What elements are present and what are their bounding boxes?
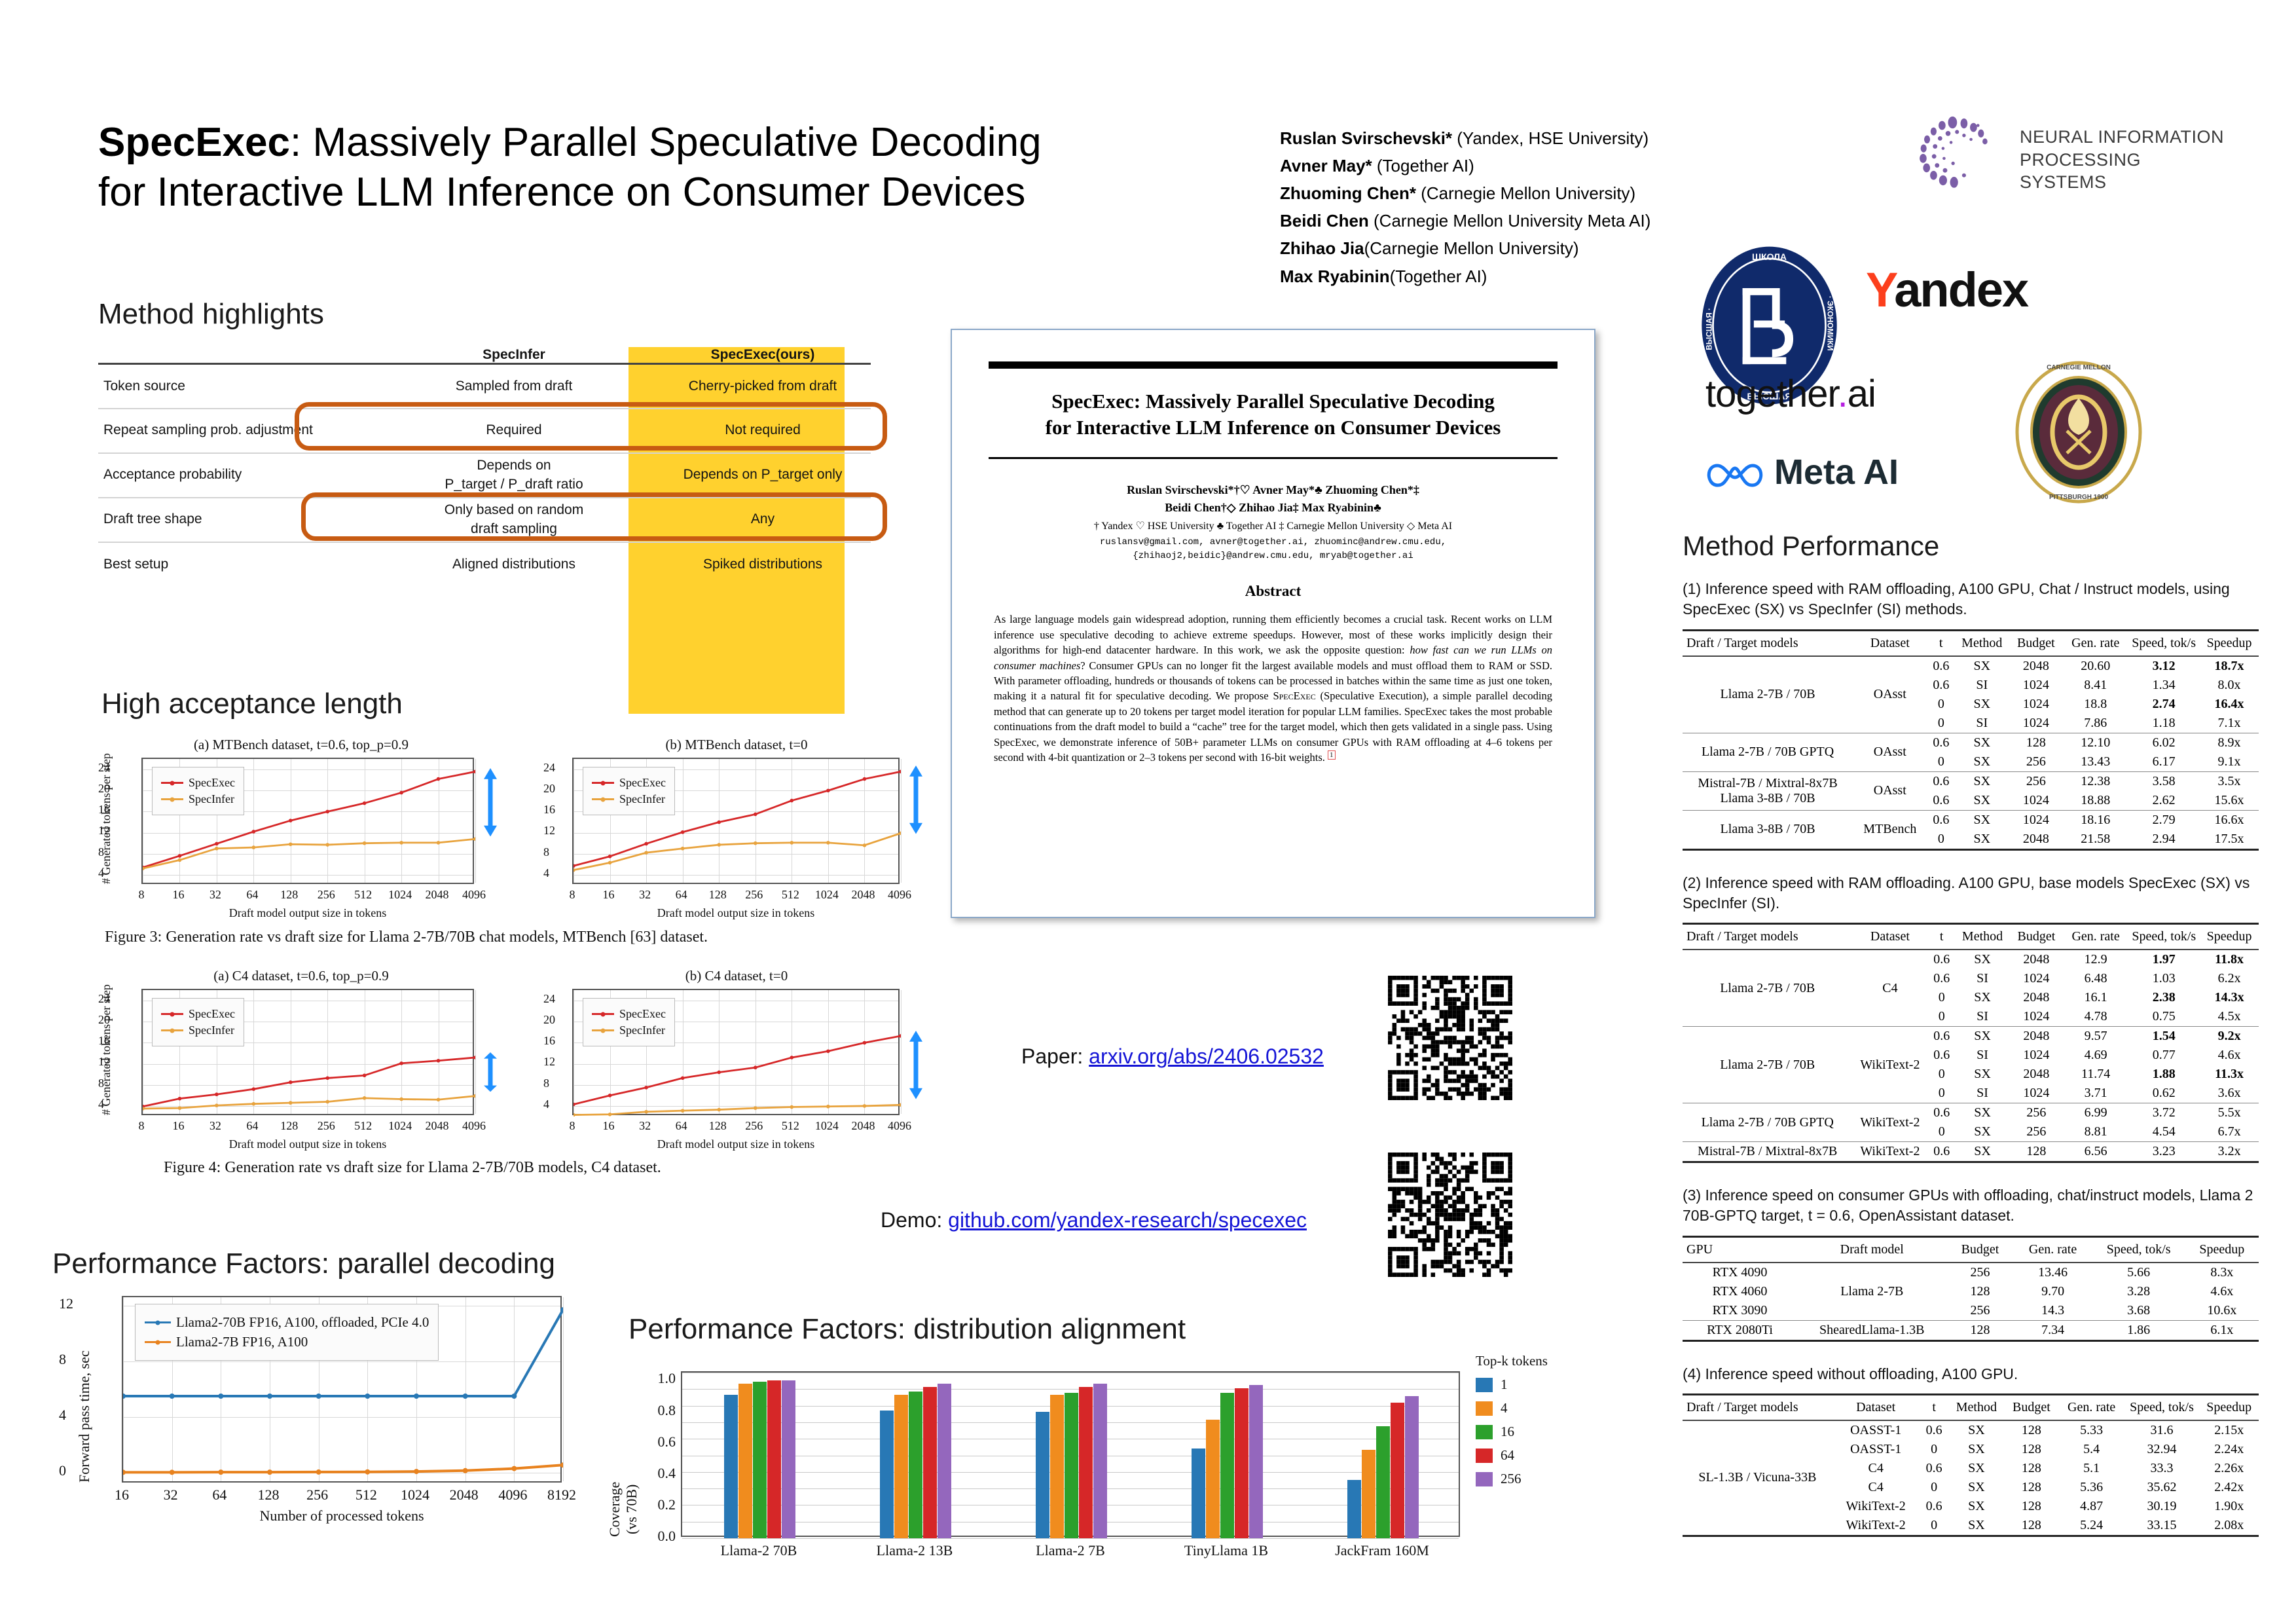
x-tick: 16	[589, 888, 629, 902]
series-point	[574, 868, 575, 872]
y-tick: 4	[543, 866, 549, 880]
cell-model: Mistral-7B / Mixtral-8x7B	[1683, 1142, 1852, 1162]
y-tick: 24	[543, 992, 555, 1006]
pd-host-ylabel: Forward pass time, sec	[76, 1350, 93, 1483]
x-tick: 512	[344, 1119, 383, 1133]
together-ai-logo: together.ai	[1705, 372, 1876, 416]
cell-speedup: 7.1x	[2200, 714, 2259, 733]
cell-speedup: 3.6x	[2200, 1084, 2259, 1103]
cell-genrate: 4.78	[2064, 1007, 2128, 1027]
x-tick: 4096	[880, 888, 919, 902]
table2-caption: (2) Inference speed with RAM offloading.…	[1683, 873, 2259, 914]
cell-speedup: 2.15x	[2199, 1420, 2259, 1440]
cell-t: 0	[1927, 1065, 1956, 1084]
x-tick: 64	[662, 1119, 701, 1133]
cell-speedup: 2.08x	[2199, 1516, 2259, 1536]
mh-row-1: Repeat sampling prob. adjustmentRequired…	[98, 409, 871, 453]
cell-t: 0.6	[1927, 771, 1955, 791]
chart-parallel-decoding: Llama2-70B FP16, A100, offloaded, PCIe 4…	[59, 1287, 576, 1532]
y-tick: 4	[59, 1407, 66, 1424]
cell-budget: 1024	[2009, 1084, 2064, 1103]
cell-budget: 2048	[2009, 1065, 2064, 1084]
x-tick: 32	[151, 1486, 191, 1504]
x-tick: 8	[553, 888, 592, 902]
mh-specinfer-0: Sampled from draft	[373, 364, 655, 409]
y-tick: 0.4	[636, 1465, 676, 1482]
series-point	[215, 1103, 219, 1107]
x-tick: 2048	[843, 1119, 883, 1133]
paper-emails-line2: {zhihaoj2,beidic}@andrew.cmu.edu, mryab@…	[989, 549, 1558, 563]
cell-speedup: 4.5x	[2200, 1007, 2259, 1027]
series-point	[644, 842, 648, 846]
cell-budget: 128	[2004, 1516, 2059, 1536]
cell-draft-model: ShearedLlama-1.3B	[1797, 1320, 1946, 1340]
series-point	[414, 1469, 419, 1474]
legend-item-1: Llama2-7B FP16, A100	[145, 1334, 429, 1350]
author-line-3: Beidi Chen (Carnegie Mellon University M…	[1280, 207, 1738, 234]
col-header: Dataset	[1852, 924, 1927, 950]
cell-dataset: WikiText-2	[1852, 1142, 1927, 1162]
series-point	[414, 1393, 419, 1399]
col-header: Budget	[2009, 630, 2063, 656]
cell-t: 0.6	[1927, 1142, 1956, 1162]
mh-specexec-4: Spiked distributions	[655, 542, 871, 587]
table-row: Llama 2-7B / 70BC40.6SX204812.91.9711.8x	[1683, 950, 2259, 969]
cell-t: 0	[1920, 1478, 1949, 1497]
col-header: Method	[1955, 630, 2009, 656]
series-point	[215, 842, 219, 846]
cell-genrate: 6.48	[2064, 969, 2128, 988]
cell-t: 0	[1927, 830, 1955, 850]
series-point	[325, 1100, 329, 1104]
mh-specexec-3: Any	[655, 498, 871, 542]
col-header: Speed, tok/s	[2128, 630, 2200, 656]
cell-genrate: 16.1	[2064, 988, 2128, 1007]
x-tick: JackFram 160M	[1320, 1542, 1444, 1559]
table3-caption: (3) Inference speed on consumer GPUs wit…	[1683, 1185, 2259, 1227]
cell-budget: 256	[1947, 1263, 2014, 1282]
cell-method: SI	[1956, 1007, 2009, 1027]
series-point	[863, 1041, 867, 1045]
cell-dataset: C4	[1852, 950, 1927, 1027]
series-point	[289, 1101, 293, 1105]
col-header: Speed, tok/s	[2128, 924, 2200, 950]
legend-item-1: 4	[1476, 1400, 1574, 1416]
cell-method: SX	[1949, 1420, 2004, 1440]
col-header: Draft / Target models	[1683, 1394, 1832, 1420]
cell-method: SI	[1956, 1084, 2009, 1103]
cell-draft-model: Llama 2-7B	[1797, 1263, 1946, 1321]
cell-speedup: 11.8x	[2200, 950, 2259, 969]
cell-speedup: 16.4x	[2200, 695, 2259, 714]
table-row: Llama 2-7B / 70BWikiText-20.6SX20489.571…	[1683, 1027, 2259, 1046]
series-point	[608, 1113, 612, 1116]
gridline-v	[563, 1297, 564, 1481]
mh-row-4: Best setupAligned distributionsSpiked di…	[98, 542, 871, 587]
cell-t: 0.6	[1920, 1420, 1949, 1440]
meta-ai-logo: Meta AI	[1705, 452, 1899, 492]
col-header: Budget	[2009, 924, 2064, 950]
cell-speed: 3.23	[2128, 1142, 2200, 1162]
paper-authors-line2: Beidi Chen†◇ Zhihao Jia‡ Max Ryabinin♣	[989, 499, 1558, 517]
paper-qr-code[interactable]	[1388, 976, 1512, 1100]
x-tick: 8	[553, 1119, 592, 1133]
gridline-h	[682, 1373, 1459, 1373]
bar-4-4	[1405, 1396, 1419, 1538]
cell-t: 0.6	[1927, 733, 1955, 752]
y-tick: 0.2	[636, 1496, 676, 1513]
series-point	[826, 788, 830, 792]
col-header: Draft / Target models	[1683, 924, 1852, 950]
cell-budget: 256	[2009, 771, 2063, 791]
y-tick: 16	[543, 803, 555, 817]
col-header: Dataset	[1832, 1394, 1920, 1420]
cell-budget: 256	[2009, 1122, 2064, 1142]
method-highlights-table: SpecInfer SpecExec(ours) Token sourceSam…	[98, 347, 871, 587]
cell-speedup: 4.6x	[2200, 1046, 2259, 1065]
figure4-caption: Figure 4: Generation rate vs draft size …	[164, 1159, 661, 1177]
cell-method: SX	[1956, 1122, 2009, 1142]
cell-speed: 1.97	[2128, 950, 2200, 969]
cell-genrate: 9.57	[2064, 1027, 2128, 1046]
bar-2-2	[1065, 1393, 1078, 1538]
x-tick: 32	[625, 888, 665, 902]
col-header: Gen. rate	[2059, 1394, 2124, 1420]
demo-link-url[interactable]: github.com/yandex-research/specexec	[948, 1208, 1307, 1232]
x-tick: TinyLlama 1B	[1164, 1542, 1288, 1559]
cell-gpu: RTX 3090	[1683, 1301, 1797, 1321]
yandex-logo: Yandex	[1866, 262, 2028, 318]
fig3a-host-xlabel: Draft model output size in tokens	[141, 906, 474, 920]
col-header: t	[1920, 1394, 1949, 1420]
neurips-logo: NEURAL INFORMATION PROCESSING SYSTEMS	[1905, 105, 2232, 216]
cell-speed: 30.19	[2124, 1497, 2200, 1516]
method-performance-column: Method Performance (1) Inference speed w…	[1683, 530, 2259, 1537]
cell-budget: 1024	[2009, 1046, 2064, 1065]
fig3a-host-title: (a) MTBench dataset, t=0.6, top_p=0.9	[98, 737, 504, 753]
fig4b-host-title: (b) C4 dataset, t=0	[543, 968, 930, 984]
cell-speedup: 18.7x	[2200, 656, 2259, 676]
mh-label-2: Acceptance probability	[98, 453, 373, 498]
author-line-4: Zhihao Jia(Carnegie Mellon University)	[1280, 234, 1738, 262]
legend-item-0: 1	[1476, 1376, 1574, 1393]
cell-speedup: 15.6x	[2200, 791, 2259, 811]
fig3a-host-legend: SpecExecSpecInfer	[152, 767, 244, 815]
x-tick: 8192	[542, 1486, 581, 1504]
x-tick: 128	[270, 888, 309, 902]
x-tick: Llama-2 7B	[1008, 1542, 1133, 1559]
bar-3-1	[1206, 1420, 1220, 1538]
da-host-ylabel: Coverage(vs 70B)	[606, 1482, 640, 1537]
gridline-v	[901, 990, 902, 1114]
legend-item-4: 256	[1476, 1471, 1574, 1487]
cell-gpu: RTX 4090	[1683, 1263, 1797, 1282]
series-point	[267, 1469, 272, 1475]
series-point	[437, 1059, 441, 1063]
legend-title: Top-k tokens	[1476, 1353, 1574, 1369]
cell-method: SI	[1956, 969, 2009, 988]
fig4b-host-delta-arrow	[907, 1031, 924, 1099]
series-point	[608, 1094, 612, 1098]
qr-demo-glyph	[1388, 1153, 1512, 1277]
cell-speedup: 1.90x	[2199, 1497, 2259, 1516]
da-host-plot	[681, 1371, 1460, 1537]
cell-t: 0	[1927, 988, 1956, 1007]
cell-t: 0	[1927, 752, 1955, 772]
bar-4-3	[1391, 1403, 1404, 1538]
paper-authors-line1: Ruslan Svirschevski*†♡ Avner May*♣ Zhuom…	[989, 481, 1558, 499]
series-point	[863, 777, 867, 781]
mh-specexec-2: Depends on P_target only	[655, 453, 871, 498]
series-point	[289, 1080, 293, 1084]
gridline-h	[682, 1538, 1459, 1539]
mh-specinfer-2: Depends onP_target / P_draft ratio	[373, 453, 655, 498]
cell-model: Llama 2-7B / 70B	[1683, 656, 1853, 733]
cell-speedup: 9.2x	[2200, 1027, 2259, 1046]
cell-budget: 2048	[2009, 830, 2063, 850]
cell-speedup: 14.3x	[2200, 988, 2259, 1007]
legend-item-0: SpecExec	[161, 1007, 235, 1021]
table-row: RTX 309025614.33.6810.6x	[1683, 1301, 2259, 1321]
series-point	[365, 1393, 370, 1399]
series-point	[608, 861, 612, 865]
x-tick: 1024	[807, 1119, 847, 1133]
cell-speedup: 2.42x	[2199, 1478, 2259, 1497]
cell-budget: 1024	[2009, 969, 2064, 988]
x-tick: 8	[122, 1119, 161, 1133]
bar-2-1	[1050, 1395, 1064, 1538]
cell-t: 0.6	[1927, 810, 1955, 830]
cell-t: 0.6	[1927, 656, 1955, 676]
table-row: Llama 3-8B / 70BMTBench0.6SX102418.162.7…	[1683, 810, 2259, 830]
cell-genrate: 18.88	[2063, 791, 2128, 811]
table1-caption: (1) Inference speed with RAM offloading,…	[1683, 579, 2259, 620]
cell-budget: 128	[2004, 1497, 2059, 1516]
cell-speed: 0.75	[2128, 1007, 2200, 1027]
mh-specexec-0: Cherry-picked from draft	[655, 364, 871, 409]
table-row: Llama 2-7B / 70B GPTQOAsst0.6SX12812.106…	[1683, 733, 2259, 752]
cell-method: SX	[1949, 1497, 2004, 1516]
mh-specexec-1: Not required	[655, 409, 871, 453]
cell-t: 0.6	[1920, 1497, 1949, 1516]
cell-speedup: 11.3x	[2200, 1065, 2259, 1084]
cell-method: SX	[1956, 1142, 2009, 1162]
table-row: SL-1.3B / Vicuna-33BOASST-10.6SX1285.333…	[1683, 1420, 2259, 1440]
cell-genrate: 18.8	[2063, 695, 2128, 714]
cell-t: 0	[1927, 1007, 1956, 1027]
cell-budget: 1024	[2009, 1007, 2064, 1027]
col-header: Speed, tok/s	[2124, 1394, 2200, 1420]
series-point	[215, 847, 219, 851]
series-line-1	[143, 839, 475, 868]
author-line-5: Max Ryabinin(Together AI)	[1280, 263, 1738, 290]
svg-text:PITTSBURGH 1900: PITTSBURGH 1900	[2049, 494, 2108, 501]
fig4b-host-legend: SpecExecSpecInfer	[583, 998, 675, 1046]
series-point	[399, 1098, 403, 1101]
series-point	[754, 841, 757, 845]
cell-method: SI	[1955, 676, 2009, 695]
fig3a-host-delta-arrow	[482, 768, 499, 837]
cell-speedup: 3.2x	[2200, 1142, 2259, 1162]
fig4a-host-delta-arrow	[482, 1052, 499, 1092]
method-highlights-block: SpecInfer SpecExec(ours) Token sourceSam…	[98, 347, 871, 587]
cell-gpu: RTX 4060	[1683, 1282, 1797, 1301]
table-no-offloading-speed: Draft / Target modelsDatasettMethodBudge…	[1683, 1393, 2259, 1537]
mh-label-4: Best setup	[98, 542, 373, 587]
x-tick: 4096	[880, 1119, 919, 1133]
cell-speed: 4.54	[2128, 1122, 2200, 1142]
bar-0-3	[767, 1380, 781, 1538]
cell-budget: 2048	[2009, 656, 2063, 676]
paper-link-row[interactable]: Paper: arxiv.org/abs/2406.02532	[1021, 1044, 1324, 1069]
x-tick: 8	[122, 888, 161, 902]
col-header: Method	[1956, 924, 2009, 950]
mh-col-specinfer: SpecInfer	[373, 347, 655, 364]
cmu-seal-icon: CARNEGIE MELLON PITTSBURGH 1900	[2013, 360, 2144, 504]
cell-t: 0.6	[1927, 1103, 1956, 1123]
cell-genrate: 20.60	[2063, 656, 2128, 676]
y-tick: 16	[543, 1034, 555, 1048]
cell-genrate: 8.41	[2063, 676, 2128, 695]
cell-speed: 2.79	[2128, 810, 2200, 830]
col-header: Speed, tok/s	[2092, 1236, 2185, 1263]
series-point	[365, 1469, 370, 1475]
fig4a-host-plot: SpecExecSpecInfer	[141, 989, 474, 1115]
cell-dataset: WikiText-2	[1832, 1497, 1920, 1516]
series-point	[899, 1034, 901, 1038]
table-row: Llama 2-7B / 70BOAsst0.6SX204820.603.121…	[1683, 656, 2259, 676]
series-line-1	[123, 1465, 563, 1472]
cell-speed: 2.94	[2128, 830, 2200, 850]
cell-speedup: 3.5x	[2200, 771, 2259, 791]
pd-host-legend: Llama2-70B FP16, A100, offloaded, PCIe 4…	[135, 1304, 439, 1361]
y-tick: 20	[543, 1013, 555, 1027]
cell-speed: 1.18	[2128, 714, 2200, 733]
meta-infinity-icon	[1705, 459, 1764, 489]
cell-t: 0.6	[1927, 969, 1956, 988]
cell-genrate: 6.99	[2064, 1103, 2128, 1123]
bar-3-2	[1220, 1393, 1234, 1538]
svg-text:· ЭКОНОМИКИ: · ЭКОНОМИКИ	[1826, 296, 1835, 351]
bar-1-0	[880, 1411, 894, 1538]
x-tick: 4096	[454, 888, 494, 902]
bar-4-2	[1376, 1426, 1390, 1538]
cell-genrate: 12.9	[2064, 950, 2128, 969]
demo-link-row[interactable]: Demo: github.com/yandex-research/specexe…	[881, 1208, 1307, 1232]
cell-dataset: OAsst	[1853, 656, 1927, 733]
cell-speedup: 6.7x	[2200, 1122, 2259, 1142]
table-row: RTX 4090Llama 2-7B25613.465.668.3x	[1683, 1263, 2259, 1282]
series-point	[267, 1393, 272, 1399]
legend-item-3: 64	[1476, 1447, 1574, 1464]
series-point	[252, 845, 256, 849]
y-tick: 12	[543, 824, 555, 838]
cell-method: SX	[1955, 656, 2009, 676]
cell-method: SX	[1956, 988, 2009, 1007]
y-tick: 20	[543, 782, 555, 796]
series-point	[473, 1094, 475, 1098]
cell-budget: 1024	[2009, 810, 2063, 830]
cell-method: SI	[1955, 714, 2009, 733]
series-point	[437, 777, 441, 781]
mh-specinfer-1: Required	[373, 409, 655, 453]
cell-t: 0	[1920, 1516, 1949, 1536]
cell-genrate: 3.71	[2064, 1084, 2128, 1103]
series-point	[463, 1468, 468, 1473]
section-heading-method-highlights: Method highlights	[98, 298, 324, 331]
abstract-heading: Abstract	[989, 583, 1558, 600]
table4-caption: (4) Inference speed without offloading, …	[1683, 1364, 2259, 1384]
fig3a-host-plot: SpecExecSpecInfer	[141, 758, 474, 884]
demo-qr-code[interactable]	[1388, 1153, 1512, 1277]
col-header: Budget	[2004, 1394, 2059, 1420]
series-point	[399, 791, 403, 795]
series-point	[473, 1056, 475, 1060]
x-tick: 256	[306, 888, 346, 902]
series-point	[123, 1469, 126, 1475]
cell-method: SX	[1955, 810, 2009, 830]
fig3b-host-plot: SpecExecSpecInfer	[572, 758, 900, 884]
cell-speed: 3.12	[2128, 656, 2200, 676]
col-header: GPU	[1683, 1236, 1797, 1263]
svg-text:CARNEGIE MELLON: CARNEGIE MELLON	[2047, 364, 2111, 371]
col-header: Draft model	[1797, 1236, 1946, 1263]
cell-t: 0.6	[1927, 950, 1956, 969]
fig4a-host-title: (a) C4 dataset, t=0.6, top_p=0.9	[98, 968, 504, 984]
col-header: Speedup	[2185, 1236, 2259, 1263]
cell-speed: 6.02	[2128, 733, 2200, 752]
y-tick: 0.0	[636, 1528, 676, 1545]
col-header: t	[1927, 630, 1955, 656]
paper-link-url[interactable]: arxiv.org/abs/2406.02532	[1089, 1044, 1324, 1068]
cell-budget: 128	[2004, 1420, 2059, 1440]
series-point	[215, 1092, 219, 1096]
paper-emails-line1: ruslansv@gmail.com, avner@together.ai, z…	[989, 536, 1558, 549]
cell-gpu: RTX 2080Ti	[1683, 1320, 1797, 1340]
series-point	[325, 810, 329, 814]
cell-genrate: 21.58	[2063, 830, 2128, 850]
cell-genrate: 12.10	[2063, 733, 2128, 752]
cell-speed: 31.6	[2124, 1420, 2200, 1440]
mh-row-3: Draft tree shapeOnly based on randomdraf…	[98, 498, 871, 542]
series-point	[511, 1393, 517, 1399]
bar-0-0	[724, 1395, 738, 1538]
section-heading-high-acceptance: High acceptance length	[101, 688, 403, 720]
series-point	[644, 1086, 648, 1090]
cell-dataset: C4	[1832, 1478, 1920, 1497]
cell-genrate: 13.46	[2013, 1263, 2092, 1282]
cell-dataset: WikiText-2	[1852, 1103, 1927, 1142]
gridline-v	[901, 759, 902, 883]
cell-speed: 3.72	[2128, 1103, 2200, 1123]
cell-genrate: 11.74	[2064, 1065, 2128, 1084]
y-tick: 8	[543, 1077, 549, 1090]
x-tick: 128	[698, 1119, 737, 1133]
cell-dataset: WikiText-2	[1832, 1516, 1920, 1536]
x-tick: 512	[346, 1486, 386, 1504]
series-point	[437, 1098, 441, 1101]
series-point	[289, 819, 293, 822]
legend-item-0: SpecExec	[592, 776, 666, 790]
table-row: RTX 2080TiShearedLlama-1.3B1287.341.866.…	[1683, 1320, 2259, 1340]
cell-speedup: 9.1x	[2200, 752, 2259, 772]
x-tick: 1024	[380, 888, 420, 902]
series-point	[790, 799, 794, 803]
cell-genrate: 7.86	[2063, 714, 2128, 733]
series-point	[178, 1097, 182, 1101]
cell-genrate: 18.16	[2063, 810, 2128, 830]
cell-speed: 1.88	[2128, 1065, 2200, 1084]
